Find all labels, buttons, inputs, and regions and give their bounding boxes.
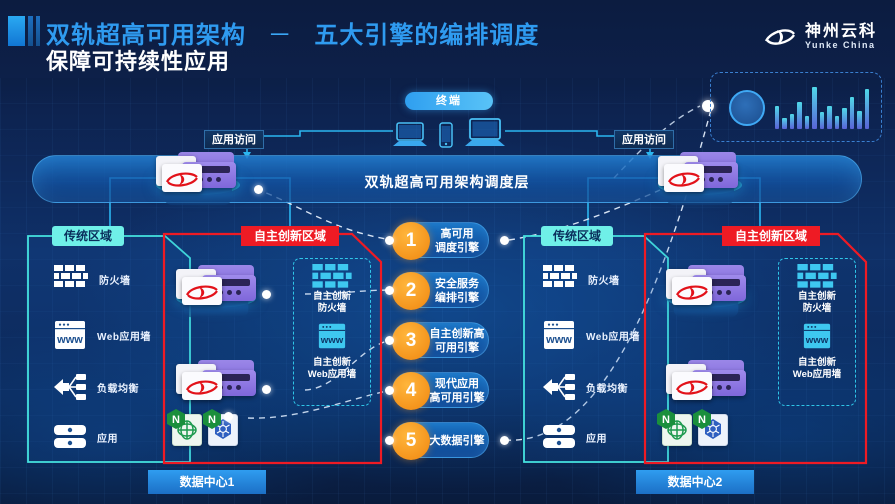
swirl-logo-icon bbox=[675, 377, 709, 397]
network-appliance-icon bbox=[176, 265, 260, 305]
appliance-dot-fw-dc1 bbox=[262, 290, 271, 299]
datacenter-label-1: 数据中心1 bbox=[148, 470, 266, 494]
caption-line1: 自主创新 bbox=[313, 291, 351, 302]
engine-number: 2 bbox=[392, 272, 430, 310]
network-appliance-icon bbox=[666, 360, 750, 400]
engine-item-5[interactable]: 5大数据引擎 bbox=[392, 422, 489, 458]
server-stack-icon bbox=[54, 424, 86, 450]
bar-chart-bar bbox=[857, 111, 861, 129]
swirl-logo-icon bbox=[185, 377, 219, 397]
bar-chart-bar bbox=[835, 116, 839, 129]
bar-chart-bar bbox=[812, 87, 816, 129]
swirl-logo-icon bbox=[675, 282, 709, 302]
list-item-label: Web应用墙 bbox=[97, 328, 151, 343]
bar-chart-bar bbox=[775, 106, 779, 129]
engine-label: 现代应用高可用引擎 bbox=[429, 377, 485, 406]
svg-text:www: www bbox=[545, 334, 572, 346]
server-stack-icon bbox=[543, 424, 575, 450]
engine-item-3[interactable]: 3自主创新高可用引擎 bbox=[392, 322, 489, 358]
accent-bars-icon bbox=[8, 16, 40, 46]
bar-chart-bar bbox=[842, 108, 846, 129]
swirl-logo-icon bbox=[165, 169, 199, 189]
network-appliance-icon bbox=[658, 152, 742, 192]
caption-line1: 自主创新 bbox=[798, 357, 836, 368]
zone-badge-innovation-dc1: 自主创新区域 bbox=[241, 226, 339, 246]
svg-text:www: www bbox=[805, 335, 829, 346]
engine-connector-dot bbox=[385, 386, 394, 395]
bar-chart-bar bbox=[797, 102, 801, 129]
access-label-right: 应用访问 bbox=[614, 130, 674, 149]
engine-label: 安全服务编排引擎 bbox=[429, 277, 485, 306]
brand-name-en: Yunke China bbox=[805, 41, 877, 50]
list-item-label: 负载均衡 bbox=[97, 380, 139, 395]
appliance-connector-dot-left bbox=[254, 185, 263, 194]
bar-chart-bar bbox=[782, 118, 786, 129]
list-item-label: 防火墙 bbox=[99, 272, 131, 287]
innovation-firewall-caption-dc2: 自主创新 防火墙 bbox=[778, 291, 856, 315]
bar-chart-bar bbox=[805, 116, 809, 129]
datacenter-label-2: 数据中心2 bbox=[636, 470, 754, 494]
terminal-devices bbox=[393, 112, 505, 148]
firewall-brick-icon bbox=[54, 265, 88, 293]
swirl-logo-icon bbox=[763, 22, 797, 52]
list-item-label: Web应用墙 bbox=[586, 328, 640, 343]
bigdata-panel bbox=[710, 72, 882, 142]
svg-text:N: N bbox=[208, 414, 216, 426]
svg-text:www: www bbox=[56, 334, 83, 346]
network-appliance-icon bbox=[666, 265, 750, 305]
nginx-badge-icon: N bbox=[202, 408, 220, 428]
page-title-sub: 五大引擎的编排调度 bbox=[314, 22, 539, 49]
engine-label: 自主创新高可用引擎 bbox=[429, 327, 485, 356]
list-item: 应用 bbox=[54, 424, 118, 450]
network-appliance-icon bbox=[176, 360, 260, 400]
appliance-dot-waf-dc1 bbox=[262, 385, 271, 394]
list-item-label: 负载均衡 bbox=[586, 380, 628, 395]
caption-line2: Web应用墙 bbox=[793, 369, 841, 380]
web-app-firewall-icon: www bbox=[543, 320, 575, 350]
list-item: 防火墙 bbox=[543, 265, 620, 293]
access-label-left: 应用访问 bbox=[204, 130, 264, 149]
engine-connector-dot bbox=[385, 336, 394, 345]
page-title-dash: － bbox=[254, 22, 307, 49]
nginx-badge-icon: N bbox=[692, 408, 710, 428]
bar-chart-bar bbox=[790, 114, 794, 129]
network-appliance-icon bbox=[156, 152, 240, 192]
bar-chart-bar bbox=[827, 106, 831, 129]
bar-chart-bar bbox=[865, 89, 869, 129]
engine-connector-dot bbox=[385, 436, 394, 445]
terminal-badge: 终端 bbox=[405, 92, 493, 110]
swirl-logo-icon bbox=[667, 169, 701, 189]
svg-text:www: www bbox=[320, 335, 344, 346]
slide-canvas: 双轨超高可用架构 － 五大引擎的编排调度 保障可持续性应用 神州云科 Yunke… bbox=[0, 0, 895, 504]
nginx-badge-icon: N bbox=[166, 408, 184, 428]
brand-logo: 神州云科 Yunke China bbox=[763, 22, 877, 52]
list-item: 负载均衡 bbox=[54, 373, 139, 401]
caption-line2: 防火墙 bbox=[318, 303, 347, 314]
engine-item-1[interactable]: 1高可用调度引擎 bbox=[392, 222, 489, 258]
list-item: www Web应用墙 bbox=[543, 320, 640, 350]
engine-item-4[interactable]: 4现代应用高可用引擎 bbox=[392, 372, 489, 408]
caption-line1: 自主创新 bbox=[798, 291, 836, 302]
web-app-firewall-icon: www bbox=[778, 322, 856, 355]
zone-badge-innovation-dc2: 自主创新区域 bbox=[722, 226, 820, 246]
engine-connector-dot-right bbox=[500, 436, 509, 445]
bar-chart-bar bbox=[850, 97, 854, 129]
list-item-label: 防火墙 bbox=[588, 272, 620, 287]
smartphone-icon bbox=[439, 122, 453, 148]
firewall-brick-icon bbox=[543, 265, 577, 293]
load-balancer-icon bbox=[543, 373, 575, 401]
engine-label: 大数据引擎 bbox=[429, 434, 485, 448]
svg-text:N: N bbox=[662, 414, 670, 426]
engine-number: 5 bbox=[392, 422, 430, 460]
web-app-firewall-icon: www bbox=[54, 320, 86, 350]
web-app-firewall-icon: www bbox=[293, 322, 371, 355]
list-item-label: 应用 bbox=[97, 430, 118, 445]
engine-item-2[interactable]: 2安全服务编排引擎 bbox=[392, 272, 489, 308]
innovation-waf-caption-dc1: 自主创新 Web应用墙 bbox=[291, 357, 373, 381]
caption-line2: 防火墙 bbox=[803, 303, 832, 314]
engine-connector-dot bbox=[385, 236, 394, 245]
caption-line2: Web应用墙 bbox=[308, 369, 356, 380]
innovation-firewall-caption-dc1: 自主创新 防火墙 bbox=[293, 291, 371, 315]
laptop-icon bbox=[393, 122, 427, 148]
caption-line1: 自主创新 bbox=[313, 357, 351, 368]
list-item: 防火墙 bbox=[54, 265, 131, 293]
list-item: 应用 bbox=[543, 424, 607, 450]
load-balancer-icon bbox=[54, 373, 86, 401]
engine-label: 高可用调度引擎 bbox=[429, 227, 485, 256]
engine-connector-dot bbox=[385, 286, 394, 295]
svg-text:N: N bbox=[698, 414, 706, 426]
brand-name-cn: 神州云科 bbox=[805, 24, 877, 41]
swirl-logo-icon bbox=[185, 282, 219, 302]
zone-badge-traditional-dc1: 传统区域 bbox=[52, 226, 124, 246]
list-item: 负载均衡 bbox=[543, 373, 628, 401]
zone-badge-traditional-dc2: 传统区域 bbox=[541, 226, 613, 246]
engine-connector-dot-right bbox=[500, 236, 509, 245]
bar-chart-icon bbox=[775, 87, 869, 129]
bar-chart-bar bbox=[820, 112, 824, 129]
engine-number: 3 bbox=[392, 322, 430, 360]
engine-number: 1 bbox=[392, 222, 430, 260]
slide-header: 双轨超高可用架构 － 五大引擎的编排调度 保障可持续性应用 神州云科 Yunke… bbox=[0, 0, 895, 78]
page-subtitle: 保障可持续性应用 bbox=[46, 44, 230, 76]
innovation-waf-caption-dc2: 自主创新 Web应用墙 bbox=[776, 357, 858, 381]
list-item: www Web应用墙 bbox=[54, 320, 151, 350]
svg-text:N: N bbox=[172, 414, 180, 426]
donut-chart-icon bbox=[729, 90, 765, 126]
cloudnative-connector-dot-dc1 bbox=[224, 412, 233, 421]
engine-number: 4 bbox=[392, 372, 430, 410]
list-item-label: 应用 bbox=[586, 430, 607, 445]
nginx-badge-icon: N bbox=[656, 408, 674, 428]
laptop-icon bbox=[465, 118, 505, 148]
